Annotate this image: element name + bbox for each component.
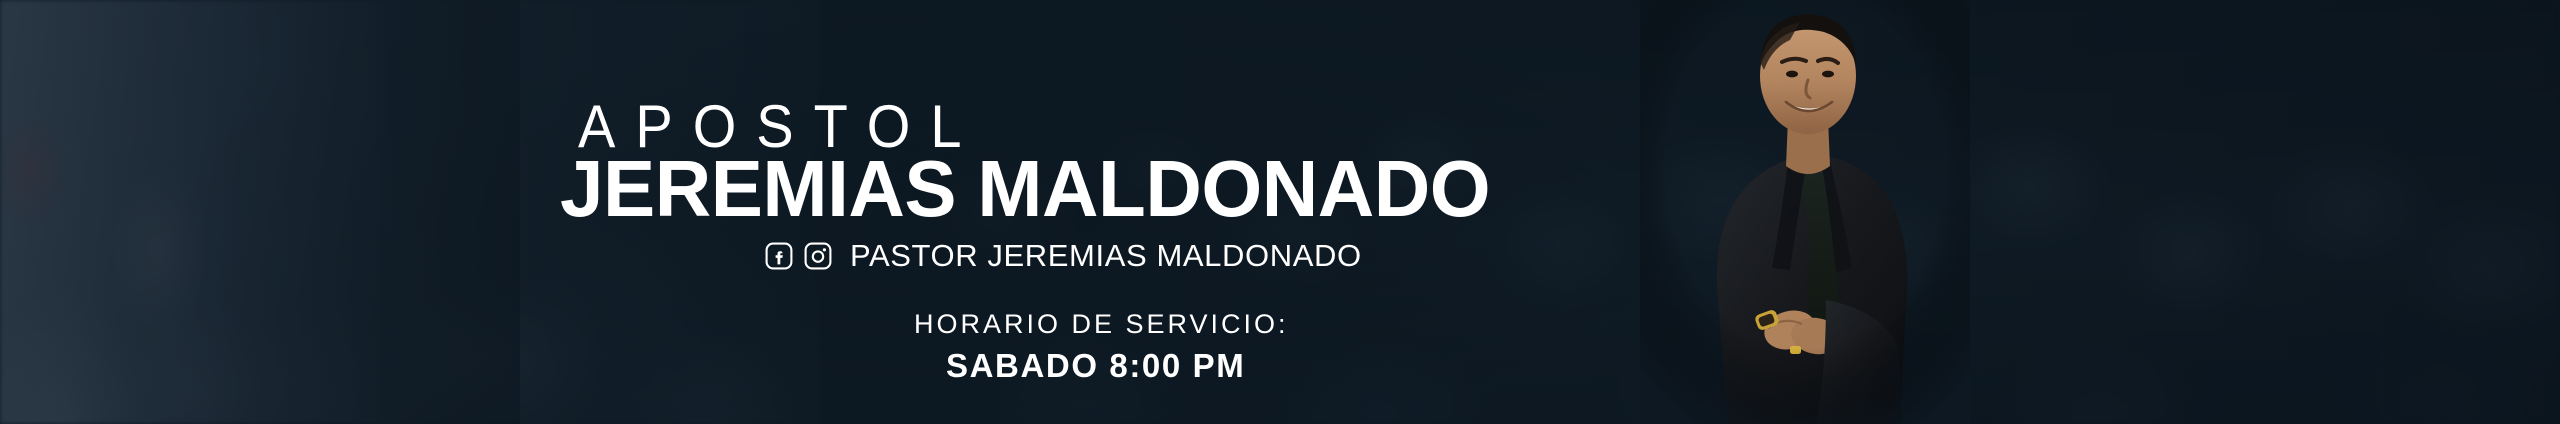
facebook-icon[interactable]	[765, 242, 793, 270]
schedule-time: SABADO 8:00 PM	[946, 349, 1245, 382]
instagram-icon[interactable]	[804, 242, 832, 270]
social-handle-row[interactable]: PASTOR JEREMIAS MALDONADO	[765, 240, 1362, 271]
banner-text-block: APOSTOL JEREMIAS MALDONADO PASTOR JEREMI…	[0, 0, 1640, 424]
social-handle-label: PASTOR JEREMIAS MALDONADO	[850, 240, 1362, 271]
church-promo-banner: APOSTOL JEREMIAS MALDONADO PASTOR JEREMI…	[0, 0, 2560, 424]
schedule-label: HORARIO DE SERVICIO:	[914, 311, 1289, 338]
page-title: JEREMIAS MALDONADO	[560, 150, 1490, 230]
pastor-portrait	[1640, 0, 1970, 424]
